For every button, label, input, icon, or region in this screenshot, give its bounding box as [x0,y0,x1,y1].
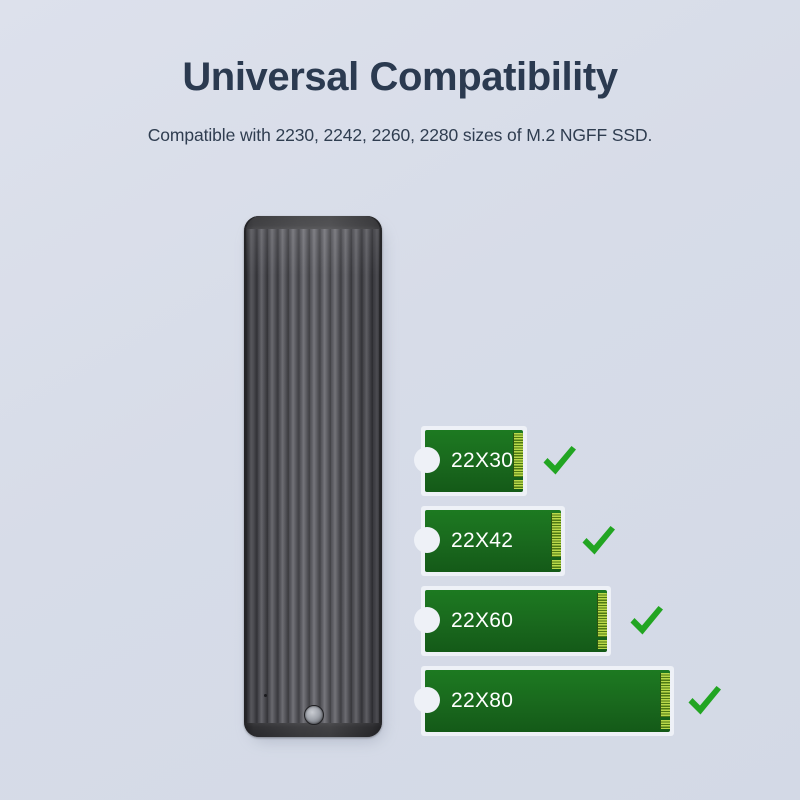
ssd-mounting-notch [414,607,440,633]
ssd-size-label: 22X30 [451,449,513,473]
ssd-size-card: 22X60 [425,590,607,652]
ssd-connector-pins [597,593,607,637]
ssd-size-card: 22X80 [425,670,670,732]
supported-check-icon [577,520,619,562]
enclosure-top-bezel [244,216,382,229]
heatsink-fins [247,227,379,727]
ssd-size-label: 22X60 [451,609,513,633]
ssd-size-card: 22X42 [425,510,561,572]
enclosure-bottom-bezel [244,723,382,737]
ssd-connector-key-tab [597,640,607,649]
ssd-connector-pins [513,433,523,477]
ssd-size-label: 22X42 [451,529,513,553]
product-infographic: Universal Compatibility Compatible with … [0,0,800,800]
ssd-mounting-notch [414,447,440,473]
ssd-pcb: 22X60 [425,590,607,652]
ssd-enclosure-product [244,216,384,740]
ssd-mounting-notch [414,527,440,553]
ssd-connector-pins [660,673,670,717]
port-screw-icon [304,705,324,725]
enclosure-body [244,216,382,737]
ssd-size-label: 22X80 [451,689,513,713]
supported-check-icon [625,600,667,642]
ssd-connector-key-tab [660,720,670,729]
ssd-mounting-notch [414,687,440,713]
supported-check-icon [538,440,580,482]
ssd-connector-pins [551,513,561,557]
page-title: Universal Compatibility [0,55,800,99]
ssd-connector-key-tab [513,480,523,489]
led-indicator-dot [264,694,267,697]
ssd-pcb: 22X42 [425,510,561,572]
ssd-connector-key-tab [551,560,561,569]
ssd-size-card: 22X30 [425,430,523,492]
page-subtitle: Compatible with 2230, 2242, 2260, 2280 s… [0,125,800,146]
supported-check-icon [683,680,725,722]
ssd-pcb: 22X80 [425,670,670,732]
